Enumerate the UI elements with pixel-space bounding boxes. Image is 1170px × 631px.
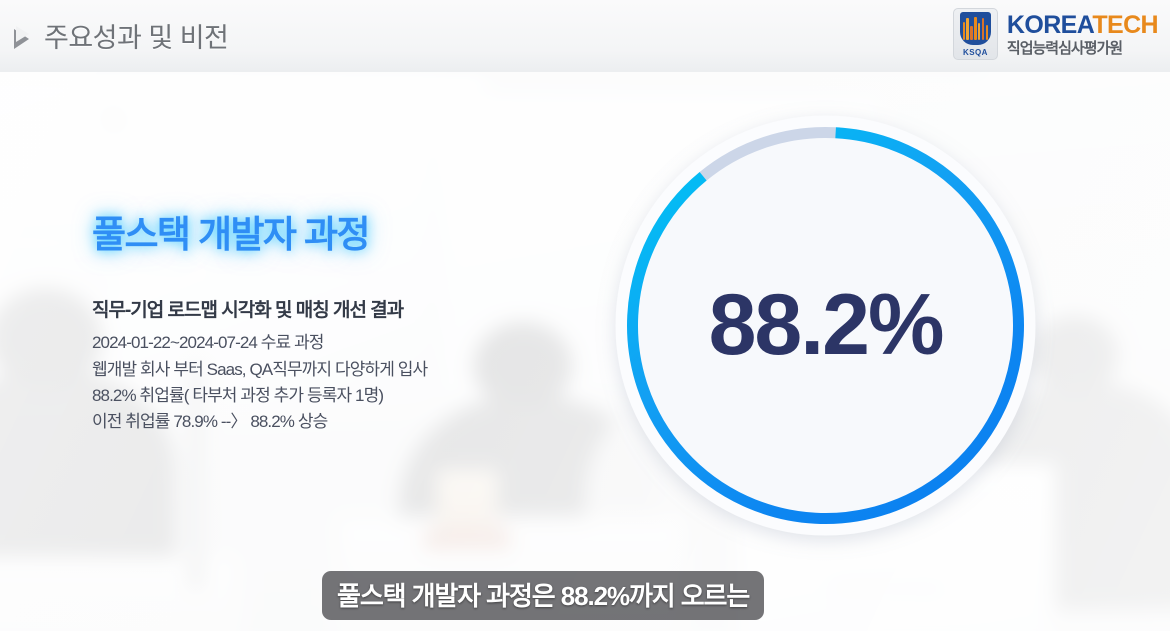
- video-subtitle-caption: 풀스택 개발자 과정은 88.2%까지 오르는: [322, 571, 764, 620]
- detail-line: 88.2% 취업률( 타부처 과정 추가 등록자 1명): [92, 383, 572, 409]
- logo-wordmark: KOREATECH 직업능력심사평가원: [1007, 13, 1158, 56]
- slide-canvas: N 주요성과 및 비전: [0, 0, 1170, 631]
- course-detail-list: 2024-01-22~2024-07-24 수료 과정 웹개발 회사 부터 Sa…: [92, 330, 572, 435]
- shield-icon: [960, 12, 991, 45]
- page-title: 주요성과 및 비전: [44, 16, 228, 55]
- logo-subtitle: 직업능력심사평가원: [1007, 41, 1158, 56]
- logo-name-korea: KOREA: [1007, 11, 1092, 39]
- detail-line: 웹개발 회사 부터 Saas, QA직무까지 다양하게 입사: [92, 357, 572, 383]
- play-triangle-icon: [14, 25, 34, 46]
- course-subheading: 직무-기업 로드맵 시각화 및 매칭 개선 결과: [92, 298, 572, 324]
- gauge-value-label: 88.2%: [608, 108, 1043, 543]
- logo-name-tech: TECH: [1092, 11, 1158, 39]
- emblem-label: KSQA: [963, 48, 988, 57]
- slide-header: 주요성과 및 비전 KSQA: [0, 0, 1170, 72]
- employment-rate-gauge: 88.2%: [608, 108, 1043, 543]
- korea-tech-logo: KSQA KOREATECH 직업능력심사평가원: [953, 8, 1158, 60]
- course-info-block: 풀스택 개발자 과정 직무-기업 로드맵 시각화 및 매칭 개선 결과 2024…: [92, 215, 572, 436]
- course-title: 풀스택 개발자 과정: [92, 215, 572, 256]
- page-title-group: 주요성과 및 비전: [14, 16, 228, 55]
- ksqa-emblem-icon: KSQA: [953, 8, 998, 60]
- detail-line: 2024-01-22~2024-07-24 수료 과정: [92, 330, 572, 356]
- detail-line: 이전 취업률 78.9% --〉 88.2% 상승: [92, 409, 572, 435]
